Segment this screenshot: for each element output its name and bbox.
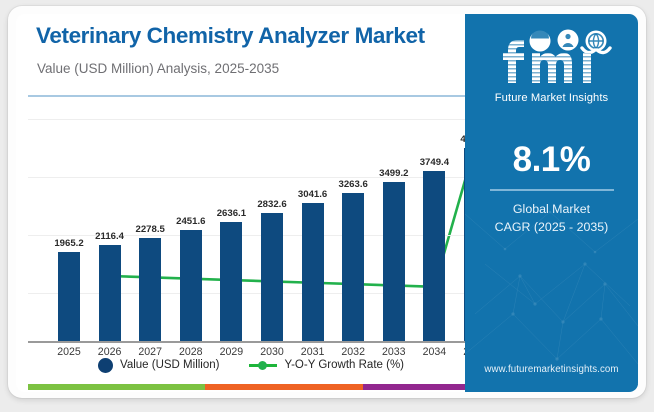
cagr-label-line1: Global Market [465,202,638,216]
page-subtitle: Value (USD Million) Analysis, 2025-2035 [37,61,279,76]
plot-region: 1965.220252116.420262278.520272451.62028… [28,98,476,341]
color-strip-segment [205,384,364,390]
chart-legend: Value (USD Million) Y-O-Y Growth Rate (%… [16,352,486,378]
bar[interactable] [383,182,405,341]
fmi-logo: Future Market Insights [465,28,638,104]
header-divider [28,95,488,97]
cagr-label-line2: CAGR (2025 - 2035) [465,220,638,234]
cagr-divider [490,189,614,191]
chart-header: Veterinary Chemistry Analyzer Market Val… [16,14,486,94]
bar[interactable] [180,230,202,341]
bar-value-label: 2832.6 [245,199,299,210]
cagr-value: 8.1% [465,142,638,177]
branding-panel: Future Market Insights 8.1% Global Marke… [465,14,638,392]
bar[interactable] [99,245,121,341]
bar-value-label: 3749.4 [407,157,461,168]
report-card: Veterinary Chemistry Analyzer Market Val… [8,6,646,398]
x-axis-line [28,341,476,343]
legend-label-growth: Y-O-Y Growth Rate (%) [284,359,404,371]
color-strip-segment [28,384,205,390]
legend-circle-icon [98,358,113,373]
legend-line-icon [249,359,277,371]
bar[interactable] [220,222,242,341]
website-url[interactable]: www.futuremarketinsights.com [465,364,638,375]
legend-item-value[interactable]: Value (USD Million) [98,358,219,373]
cagr-block: 8.1% Global Market CAGR (2025 - 2035) [465,142,638,234]
bar[interactable] [139,238,161,341]
page-title: Veterinary Chemistry Analyzer Market [36,23,425,49]
fmi-logo-icon [482,28,622,90]
gridline [28,119,476,120]
bar[interactable] [342,193,364,341]
bar[interactable] [58,252,80,341]
bar-value-label: 3499.2 [367,168,421,179]
card-inner: Veterinary Chemistry Analyzer Market Val… [16,14,638,392]
bar[interactable] [302,203,324,341]
bar[interactable] [423,171,445,341]
legend-label-value: Value (USD Million) [120,359,219,371]
bar-value-label: 3263.6 [326,179,380,190]
bar[interactable] [261,213,283,341]
chart-area: 1965.220252116.420262278.520272451.62028… [16,98,486,348]
legend-item-growth[interactable]: Y-O-Y Growth Rate (%) [249,359,404,371]
bar-value-label: 3041.6 [286,189,340,200]
gridline [28,293,476,294]
fmi-logo-subtitle: Future Market Insights [465,92,638,104]
growth-rate-line [28,98,476,341]
